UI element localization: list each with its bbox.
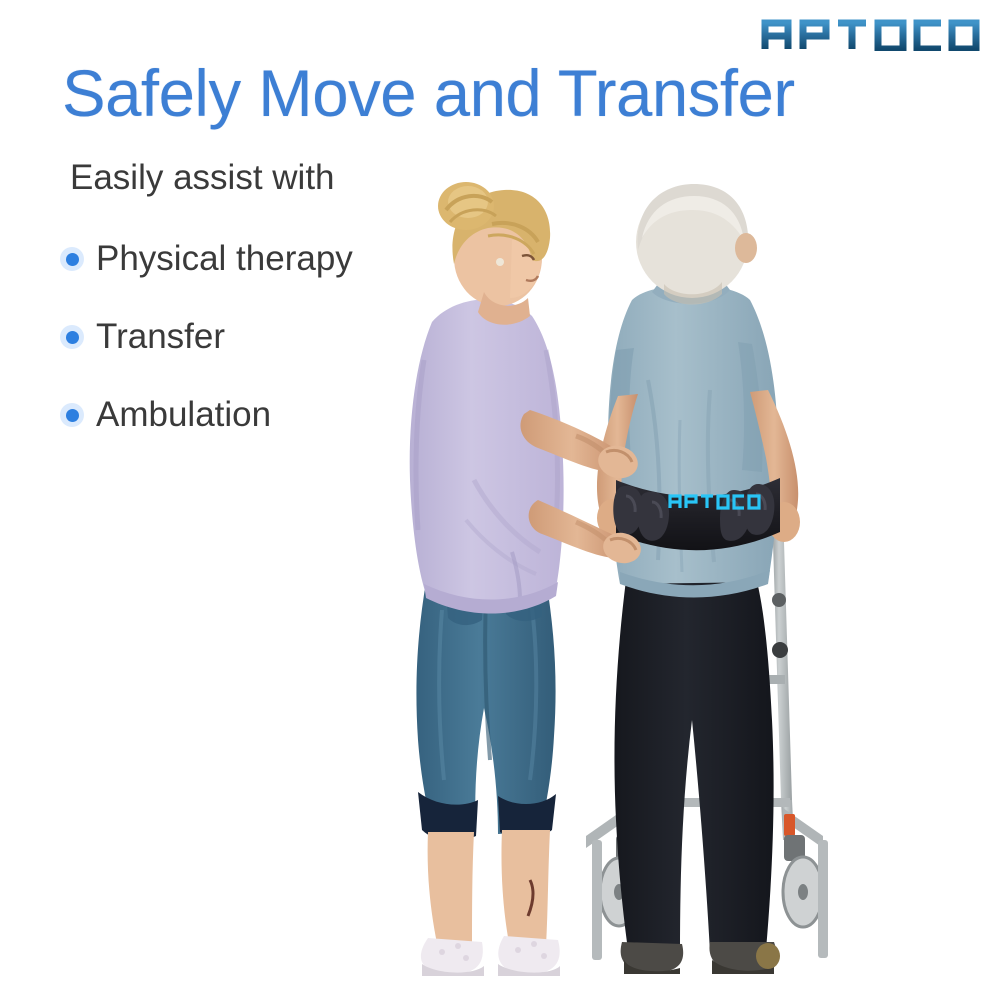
- list-item: Transfer: [60, 318, 353, 356]
- list-item: Physical therapy: [60, 240, 353, 278]
- aptoco-logo: [758, 9, 982, 51]
- list-item-label: Ambulation: [96, 396, 271, 434]
- product-photo: [380, 180, 1000, 980]
- product-marketing-image: Safely Move and Transfer Easily assist w…: [0, 0, 1000, 1000]
- list-item-label: Transfer: [96, 318, 225, 356]
- list-item: Ambulation: [60, 396, 353, 434]
- bullet-dot-icon: [60, 325, 84, 349]
- subheading: Easily assist with: [70, 156, 335, 200]
- feature-list: Physical therapy Transfer Ambulation: [60, 240, 353, 474]
- bullet-dot-icon: [60, 247, 84, 271]
- list-item-label: Physical therapy: [96, 240, 353, 278]
- bullet-dot-icon: [60, 403, 84, 427]
- page-title: Safely Move and Transfer: [62, 57, 795, 129]
